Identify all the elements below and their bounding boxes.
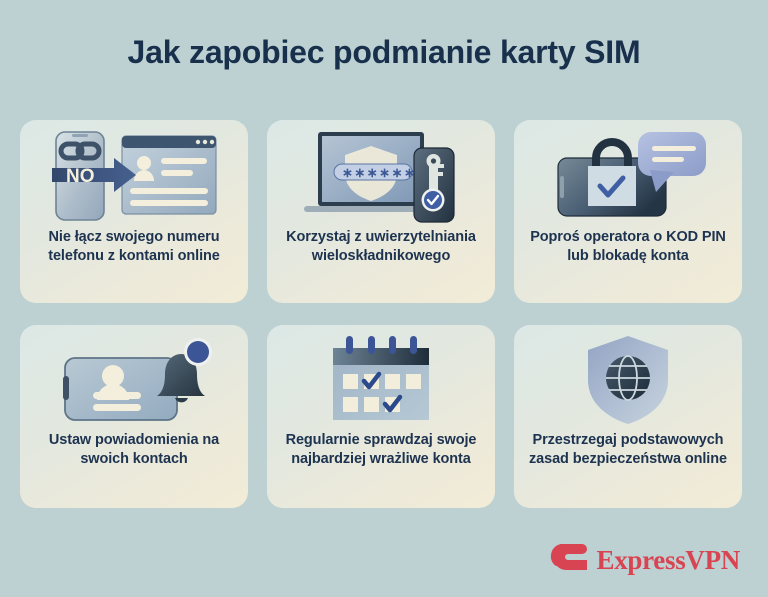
no-badge-text: NO — [66, 166, 95, 187]
phone-profile-notification-bell-icon — [20, 325, 248, 431]
tip-card-pin-code: Poproś operatora o KOD PIN lub blokadę k… — [514, 120, 742, 303]
phone-link-no-arrow-browser-icon: NO — [20, 120, 248, 228]
tip-card-label: Przestrzegaj podstawowych zasad bezpiecz… — [514, 431, 742, 469]
infographic-root: Jak zapobiec podmianie karty SIM — [0, 0, 768, 597]
tip-card-no-phone-link: NO Nie łącz swojego numeru telefonu z ko… — [20, 120, 248, 303]
shield-globe-icon — [514, 325, 742, 431]
page-title: Jak zapobiec podmianie karty SIM — [0, 34, 768, 71]
expressvpn-logo: ExpressVPN — [549, 542, 740, 579]
tip-card-label: Poproś operatora o KOD PIN lub blokadę k… — [514, 228, 742, 266]
tip-card-online-safety: Przestrzegaj podstawowych zasad bezpiecz… — [514, 325, 742, 508]
laptop-shield-password-phone-key-icon: ∗∗∗∗∗∗∗ — [267, 120, 495, 228]
tip-card-check-accounts: Regularnie sprawdzaj swoje najbardziej w… — [267, 325, 495, 508]
tip-card-label: Regularnie sprawdzaj swoje najbardziej w… — [267, 431, 495, 469]
tip-card-mfa: ∗∗∗∗∗∗∗ Korzystaj z uwierzytelniania wie… — [267, 120, 495, 303]
tip-card-label: Korzystaj z uwierzytelniania wieloskładn… — [267, 228, 495, 266]
expressvpn-e-logo — [549, 542, 587, 579]
expressvpn-wordmark: ExpressVPN — [596, 545, 740, 576]
tips-grid: NO Nie łącz swojego numeru telefonu z ko… — [20, 120, 748, 508]
tip-card-notifications: Ustaw powiadomienia na swoich kontach — [20, 325, 248, 508]
calendar-checkmarks-icon — [267, 325, 495, 431]
phone-padlock-check-speech-bubble-icon — [514, 120, 742, 228]
tip-card-label: Nie łącz swojego numeru telefonu z konta… — [20, 228, 248, 266]
tip-card-label: Ustaw powiadomienia na swoich kontach — [20, 431, 248, 469]
